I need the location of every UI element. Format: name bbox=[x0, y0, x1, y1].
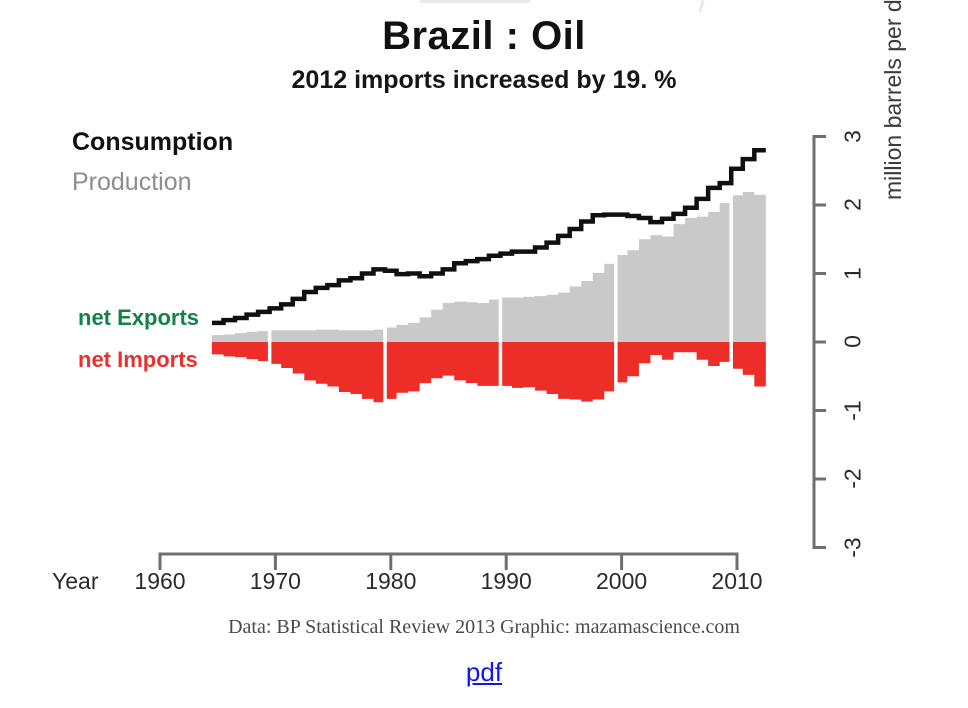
slide-canvas: Brazil : Oil 2012 imports increased by 1… bbox=[0, 0, 968, 708]
chart-caption: Data: BP Statistical Review 2013 Graphic… bbox=[0, 616, 968, 639]
chart-title: Brazil : Oil bbox=[0, 14, 968, 59]
chart-plot-area bbox=[0, 100, 800, 570]
y-tick-label: -2 bbox=[840, 462, 867, 496]
y-tick-label: 3 bbox=[840, 119, 867, 153]
slide-artifact-top-left bbox=[420, 0, 530, 3]
y-tick-label: -1 bbox=[840, 393, 867, 427]
chart-subtitle: 2012 imports increased by 19. % bbox=[0, 66, 968, 95]
slide-artifact-top-right bbox=[698, 0, 705, 12]
y-tick-label: 2 bbox=[840, 188, 867, 222]
y-axis bbox=[806, 120, 832, 560]
y-tick-label: 1 bbox=[840, 256, 867, 290]
y-tick-label: 0 bbox=[840, 325, 867, 359]
series-net-imports-area bbox=[212, 342, 766, 402]
x-tick-label: 1980 bbox=[353, 568, 429, 595]
y-tick-label: -3 bbox=[840, 530, 867, 564]
x-tick-label: 1970 bbox=[237, 568, 313, 595]
x-tick-label: 1960 bbox=[122, 568, 198, 595]
pdf-link[interactable]: pdf bbox=[0, 657, 968, 688]
x-axis-title: Year bbox=[52, 568, 98, 595]
y-axis-title: million barrels per day bbox=[880, 0, 907, 200]
x-tick-label: 2010 bbox=[699, 568, 775, 595]
x-tick-label: 2000 bbox=[584, 568, 660, 595]
x-tick-label: 1990 bbox=[468, 568, 544, 595]
